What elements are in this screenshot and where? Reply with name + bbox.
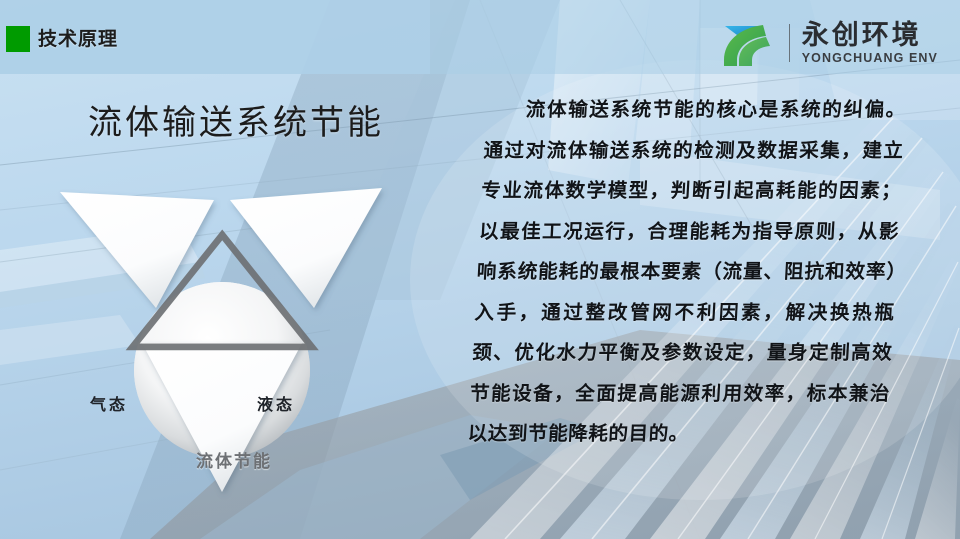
fluid-energy-triangle-diagram: 气态 液态 气液 混合 流体节能: [52, 180, 412, 500]
header-title: 技术原理: [38, 27, 118, 52]
slide-root: 技术原理: [0, 0, 960, 539]
company-logo: 永创环境 YONGCHUANG ENV: [721, 18, 938, 68]
diagram-label-gas: 气态: [90, 395, 128, 417]
logo-name-cn: 永创环境: [802, 21, 938, 50]
logo-wordmark: 永创环境 YONGCHUANG ENV: [802, 21, 938, 65]
diagram-center-label: 流体节能: [154, 451, 314, 473]
yongchuang-leaf-logo-icon: [721, 19, 779, 67]
diagram-label-liquid: 液态: [257, 395, 295, 417]
page-title: 流体输送系统节能: [88, 100, 384, 146]
logo-name-en: YONGCHUANG ENV: [802, 51, 938, 65]
body-paragraph: 流体输送系统节能的核心是系统的纠偏。通过对流体输送系统的检测及数据采集，建立专业…: [467, 90, 907, 455]
logo-divider-icon: [789, 24, 790, 62]
green-square-bullet-icon: [6, 26, 30, 52]
